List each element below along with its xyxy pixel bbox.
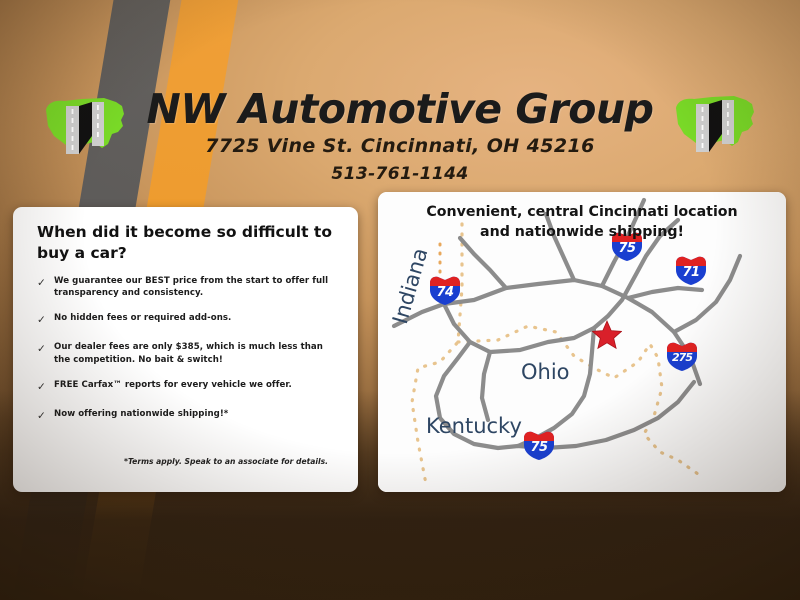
list-item-label: Our dealer fees are only $385, which is … (54, 341, 342, 365)
map-title-line2: and nationwide shipping! (480, 224, 684, 240)
list-item: ✓ Our dealer fees are only $385, which i… (37, 341, 342, 365)
list-item: ✓ We guarantee our BEST price from the s… (37, 275, 342, 299)
flyer-root: NW Automotive Group 7725 Vine St. Cincin… (0, 0, 800, 600)
shield-route-number: 74 (428, 285, 462, 300)
state-label-ohio: Ohio (521, 360, 570, 384)
dealership-location-star-icon (592, 320, 622, 350)
benefits-list: ✓ We guarantee our BEST price from the s… (37, 275, 342, 437)
map-title: Convenient, central Cincinnati location … (396, 202, 768, 242)
headline-text: When did it become so difficult to buy a… (37, 222, 337, 264)
list-item-label: We guarantee our BEST price from the sta… (54, 275, 342, 299)
list-item-label: No hidden fees or required add-ons. (54, 312, 231, 324)
list-item: ✓ No hidden fees or required add-ons. (37, 312, 342, 328)
shield-route-number: 75 (610, 241, 644, 256)
map-title-line1: Convenient, central Cincinnati location (426, 204, 737, 220)
terms-disclaimer: *Terms apply. Speak to an associate for … (101, 457, 351, 466)
interstate-shield-icon: 275 (665, 340, 699, 372)
list-item-label: FREE Carfax™ reports for every vehicle w… (54, 379, 292, 391)
check-icon: ✓ (37, 341, 54, 357)
list-item: ✓ FREE Carfax™ reports for every vehicle… (37, 379, 342, 395)
state-label-kentucky: Kentucky (426, 414, 522, 438)
map-panel: Convenient, central Cincinnati location … (378, 192, 786, 492)
benefits-panel: When did it become so difficult to buy a… (13, 207, 358, 492)
check-icon: ✓ (37, 312, 54, 328)
interstate-shield-icon: 74 (428, 274, 462, 306)
check-icon: ✓ (37, 379, 54, 395)
nw-automotive-logo-icon (672, 90, 758, 156)
list-item-label: Now offering nationwide shipping!* (54, 408, 228, 420)
shield-route-number: 71 (674, 265, 708, 280)
interstate-shield-icon: 75 (522, 429, 556, 461)
check-icon: ✓ (37, 275, 54, 291)
list-item: ✓ Now offering nationwide shipping!* (37, 408, 342, 424)
shield-route-number: 275 (665, 351, 699, 364)
shield-route-number: 75 (522, 440, 556, 455)
nw-automotive-logo-icon (42, 92, 128, 158)
interstate-shield-icon: 71 (674, 254, 708, 286)
check-icon: ✓ (37, 408, 54, 424)
